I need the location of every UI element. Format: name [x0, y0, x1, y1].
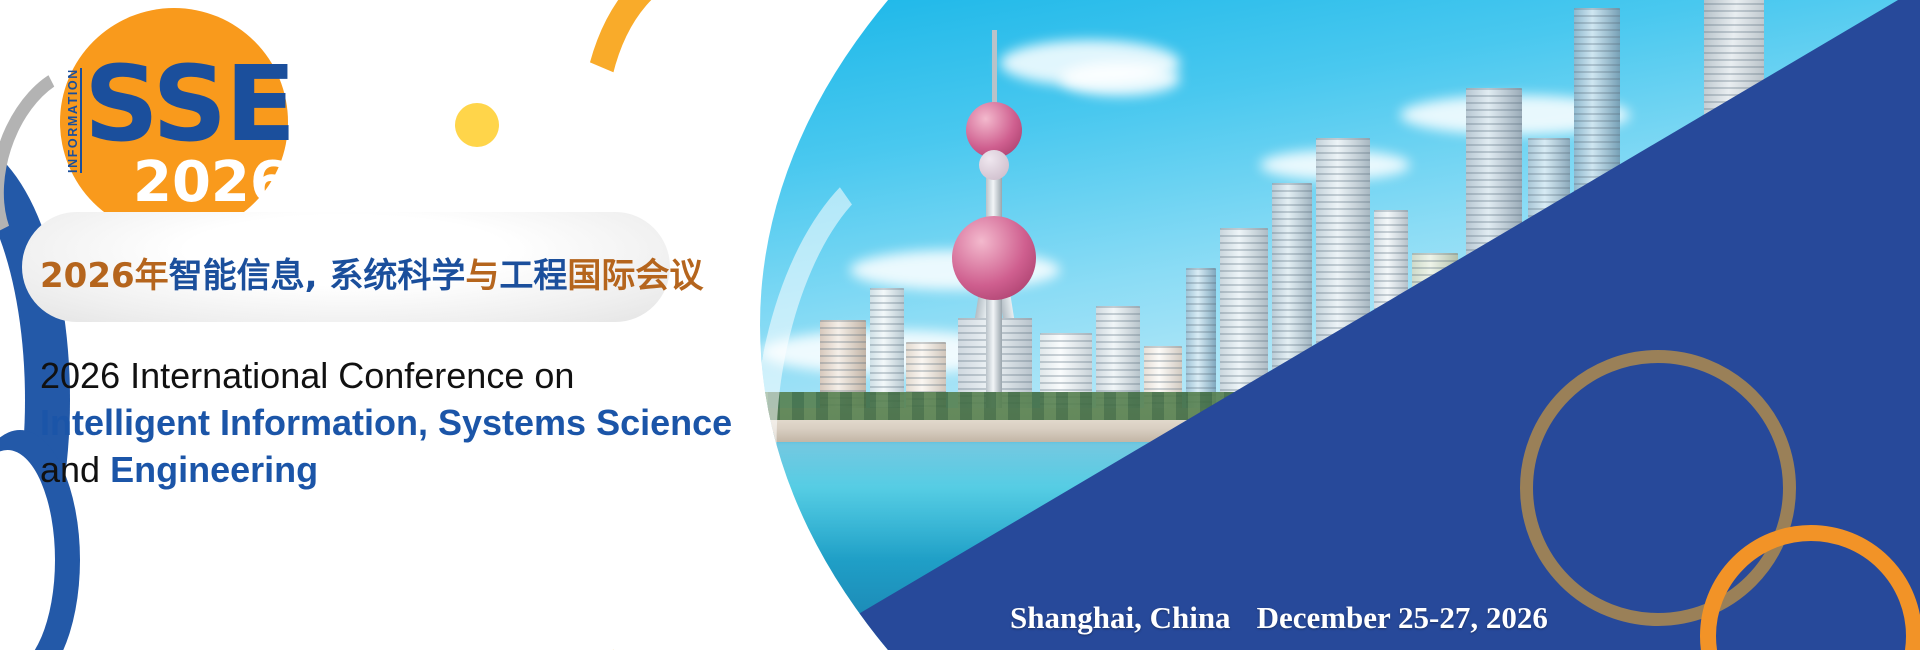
logo-year: 2026 — [133, 155, 289, 211]
yellow-dot-decoration — [455, 103, 499, 147]
pearl-tower-small-sphere — [979, 150, 1009, 180]
footer-dates: December 25-27, 2026 — [1257, 600, 1548, 635]
footer-location-date: Shanghai, ChinaDecember 25-27, 2026 — [1010, 600, 1548, 636]
chinese-title-seg-1: 智能信息, 系统科学 — [169, 256, 466, 296]
chinese-title-seg-3: 工程 — [499, 256, 567, 296]
chinese-title-seg-2: 与 — [465, 256, 499, 296]
english-title-line3-prefix: and — [40, 449, 110, 490]
chinese-title: 2026年智能信息, 系统科学与工程国际会议 — [40, 248, 680, 297]
english-title: 2026 International Conference on Intelli… — [40, 352, 740, 493]
cloud — [1060, 62, 1180, 96]
english-title-line3: and Engineering — [40, 446, 740, 493]
chinese-title-seg-0: 2026年 — [40, 256, 169, 296]
pearl-tower-spire — [992, 30, 997, 110]
logo-information-label: INFORMATION — [66, 68, 82, 173]
english-title-line3-highlight: Engineering — [110, 449, 318, 490]
conference-banner: INFORMATION SSE 2026 2026年智能信息, 系统科学与工程国… — [0, 0, 1920, 650]
english-title-line2: Intelligent Information, Systems Science — [40, 399, 740, 446]
footer-location: Shanghai, China — [1010, 600, 1231, 635]
chinese-title-seg-4: 国际会议 — [567, 256, 703, 296]
logo-acronym: SSE — [84, 52, 294, 156]
english-title-line1: 2026 International Conference on — [40, 352, 740, 399]
